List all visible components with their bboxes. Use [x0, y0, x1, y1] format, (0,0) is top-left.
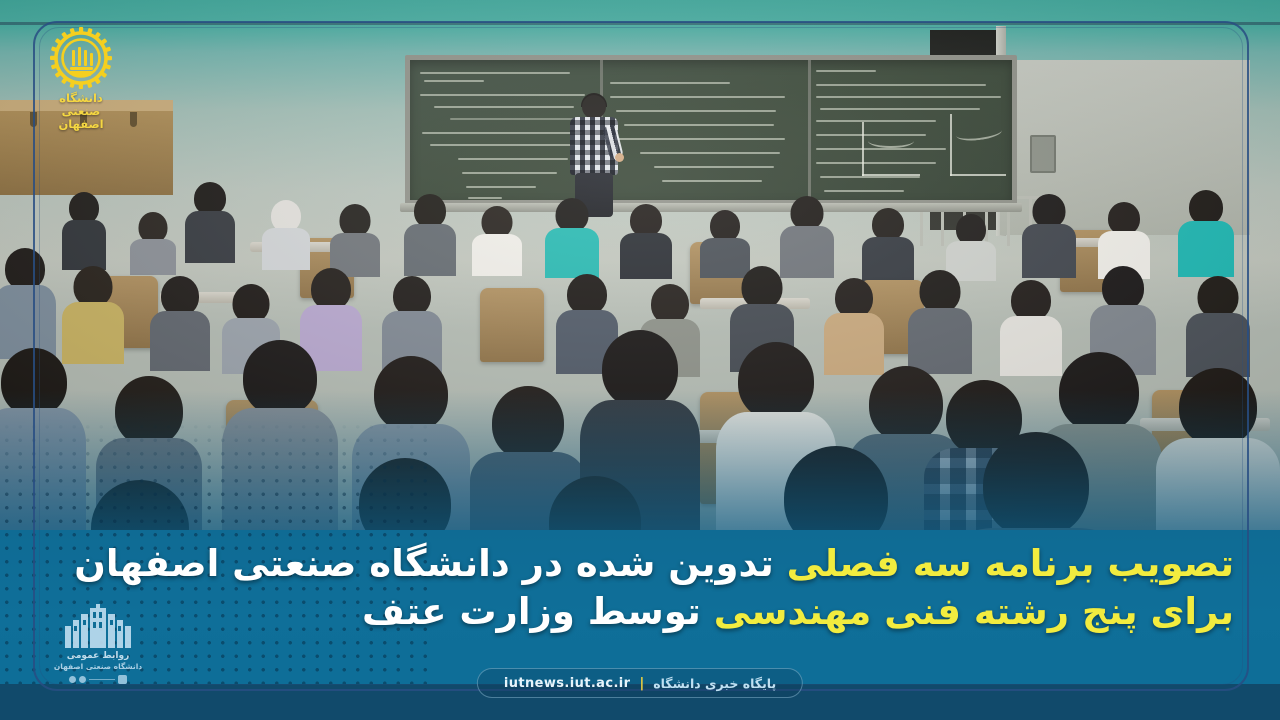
headline-line-1-yellow: تصویب برنامه سه فصلی	[787, 542, 1234, 585]
social-icon-square	[118, 675, 127, 684]
iut-gear-logo-icon	[49, 26, 113, 90]
university-brand: دانشگاه صنعتی اصفهان	[44, 26, 118, 131]
brand-line-2: صنعتی	[44, 105, 118, 118]
headline-line-2-white: توسط وزارت عتف	[362, 590, 701, 633]
headline-line-1-white: تدوین شده در دانشگاه صنعتی اصفهان	[74, 542, 773, 585]
pr-logo-line-2: دانشگاه صنعتی اصفهان	[46, 662, 150, 671]
news-site-url[interactable]: iutnews.iut.ac.ir	[504, 676, 631, 691]
headline-line-2: برای پنج رشته فنی مهندسی توسط وزارت عتف	[110, 588, 1234, 636]
pill-separator: |	[639, 676, 644, 691]
headline: تصویب برنامه سه فصلی تدوین شده در دانشگا…	[110, 540, 1234, 636]
pr-logo-line-1: روابط عمومی	[46, 651, 150, 661]
social-icon-circle	[69, 676, 76, 683]
headline-line-1: تصویب برنامه سه فصلی تدوین شده در دانشگا…	[110, 540, 1234, 588]
university-brand-text: دانشگاه صنعتی اصفهان	[44, 92, 118, 131]
news-site-label: پایگاه خبری دانشگاه	[653, 676, 776, 691]
brand-line-1: دانشگاه	[44, 92, 118, 105]
social-icon-circle	[79, 676, 86, 683]
brand-line-3: اصفهان	[44, 118, 118, 131]
divider	[89, 679, 115, 680]
news-banner: دانشگاه صنعتی اصفهان	[0, 0, 1280, 720]
headline-line-2-yellow: برای پنج رشته فنی مهندسی	[714, 590, 1234, 633]
pr-social-row	[46, 675, 150, 684]
news-site-pill[interactable]: پایگاه خبری دانشگاه | iutnews.iut.ac.ir	[477, 668, 803, 698]
